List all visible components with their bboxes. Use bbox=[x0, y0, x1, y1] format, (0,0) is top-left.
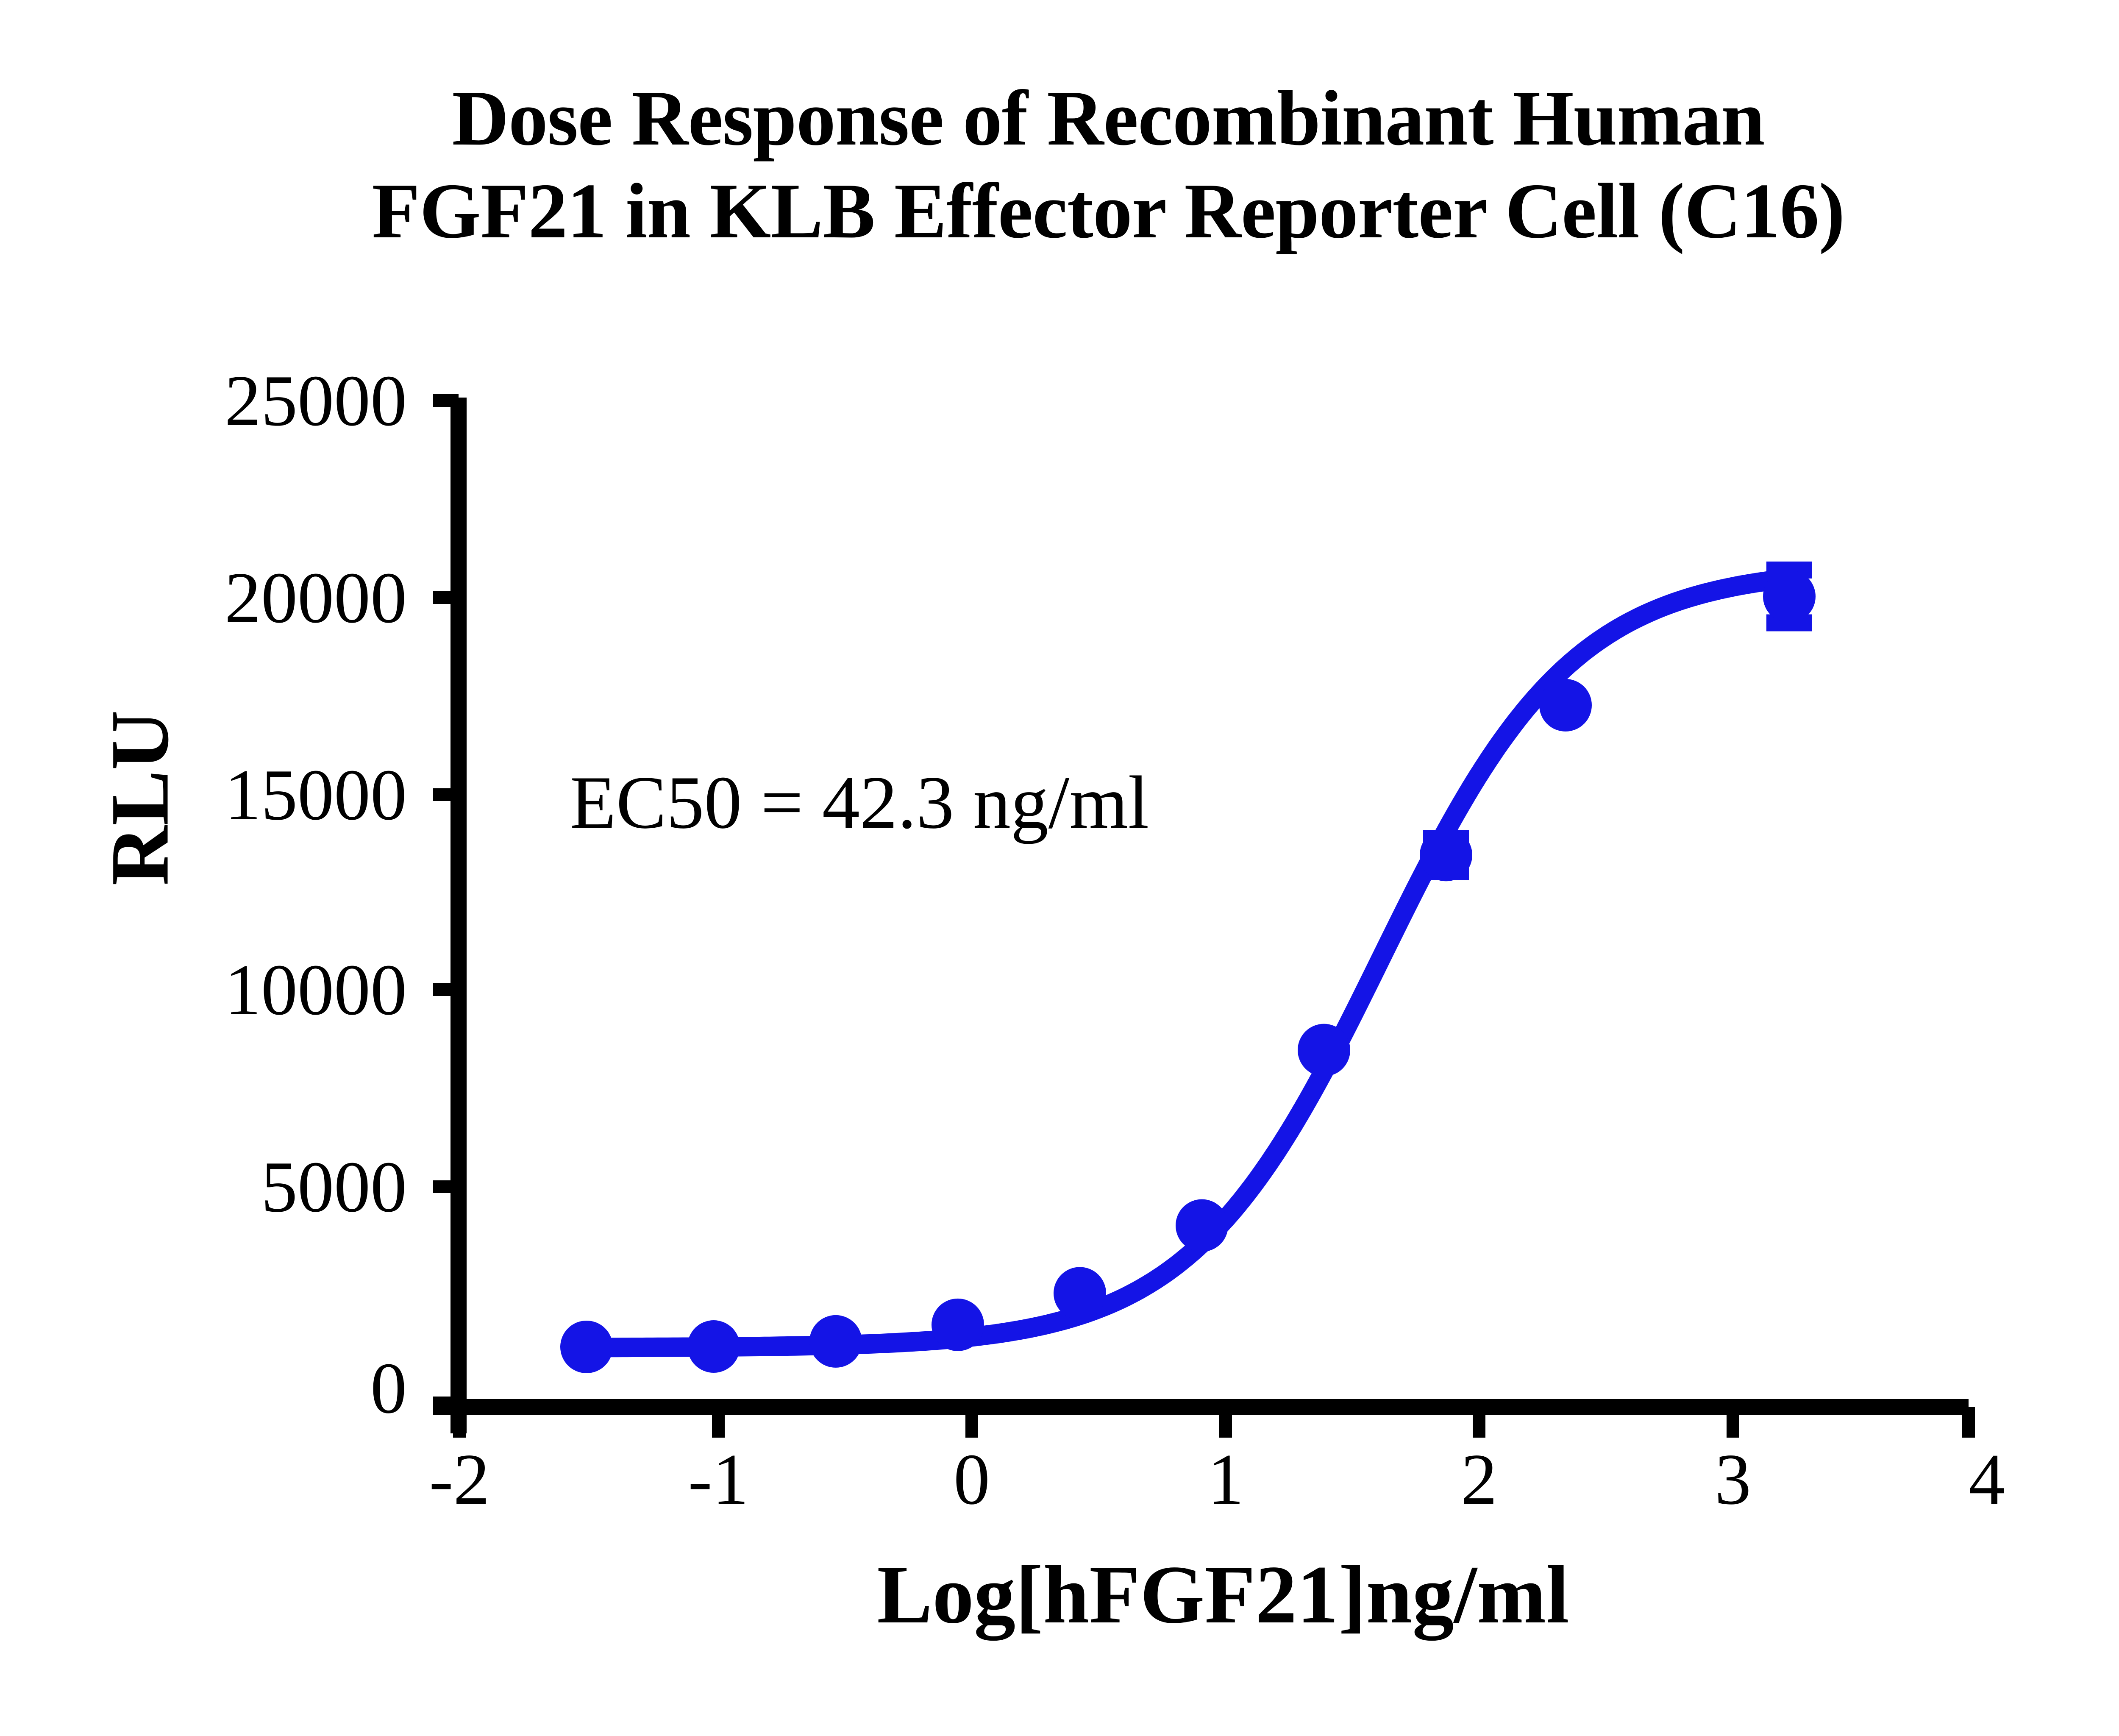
data-point-marker bbox=[1763, 570, 1816, 623]
data-point-marker bbox=[560, 1321, 613, 1373]
data-point-marker bbox=[687, 1320, 740, 1373]
data-point-marker bbox=[1539, 679, 1592, 732]
data-point-marker bbox=[1298, 1024, 1350, 1077]
data-point-marker bbox=[809, 1315, 862, 1368]
chart-figure: Dose Response of Recombinant Human FGF21… bbox=[0, 0, 2119, 1736]
data-point-marker bbox=[1176, 1199, 1228, 1252]
data-point-marker bbox=[1420, 829, 1472, 881]
data-point-marker bbox=[1054, 1267, 1106, 1319]
plot-canvas bbox=[0, 0, 2119, 1736]
data-point-marker bbox=[932, 1299, 984, 1351]
